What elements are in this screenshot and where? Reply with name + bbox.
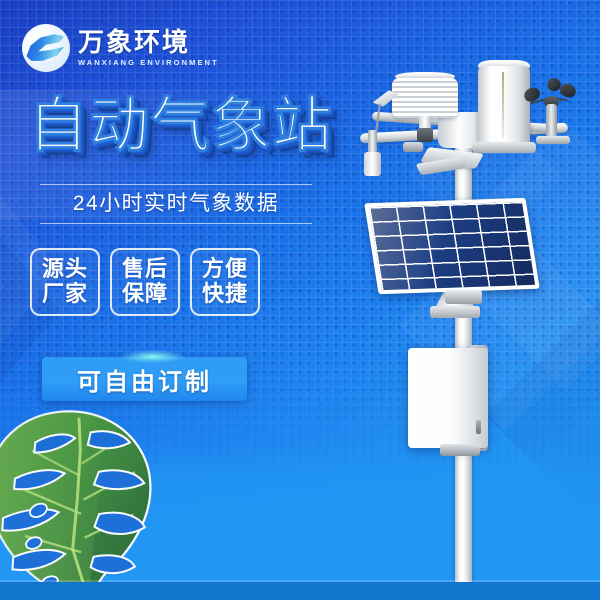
customize-button[interactable]: 可自由订制 [42, 357, 247, 401]
brand-name-cn: 万象环境 [78, 29, 219, 55]
brand-name-en: WANXIANG ENVIRONMENT [78, 59, 219, 67]
bottom-bar [0, 582, 600, 600]
subtitle-text: 24小时实时气象数据 [40, 185, 312, 223]
feature-badges: 源头 厂家 售后 保障 方便 快捷 [30, 248, 260, 316]
badge-line-1: 售后 [122, 257, 168, 282]
feature-badge-source-factory[interactable]: 源头 厂家 [30, 248, 100, 316]
subtitle-block: 24小时实时气象数据 [40, 184, 312, 224]
page-title: 自动气象站 [28, 96, 333, 156]
badge-line-1: 源头 [42, 257, 88, 282]
badge-line-2: 保障 [122, 282, 168, 307]
subtitle-rule-bottom [40, 223, 312, 224]
brand-logo-text: 万象环境 WANXIANG ENVIRONMENT [78, 29, 219, 67]
monstera-leaf-icon [0, 390, 207, 600]
feature-badge-after-sales[interactable]: 售后 保障 [110, 248, 180, 316]
promo-banner: 环境监测站 万象环境 WANXIANG ENVIRONMENT [0, 0, 600, 600]
brand-logo[interactable]: 万象环境 WANXIANG ENVIRONMENT [22, 24, 219, 72]
badge-line-1: 方便 [202, 257, 248, 282]
badge-line-2: 厂家 [42, 282, 88, 307]
globe-swoosh-logo-icon [22, 24, 70, 72]
feature-badge-convenient[interactable]: 方便 快捷 [190, 248, 260, 316]
badge-line-2: 快捷 [202, 282, 248, 307]
